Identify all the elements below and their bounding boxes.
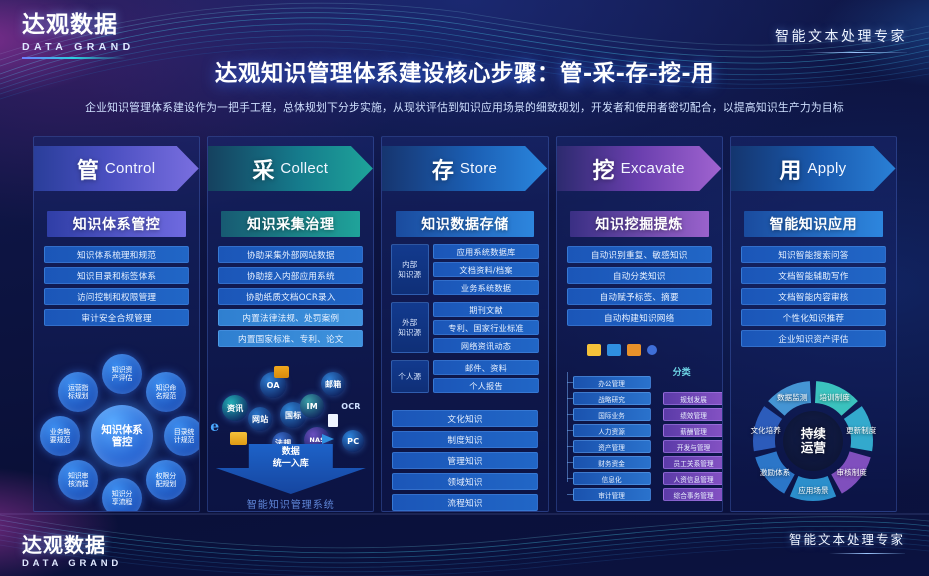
feature-item[interactable]: 内置国家标准、专利、论文 [218,330,363,347]
browser-e-icon: e [210,420,224,434]
bubble-satellite[interactable]: 运营指标规划 [58,372,98,412]
tree-connector [567,446,573,447]
footer-brand-name-en: DATA GRAND [22,559,122,569]
tree-source-icon [607,344,621,356]
footer-brand-name-cn: 达观数据 [22,535,122,555]
feature-item[interactable]: 知识智能搜索问答 [741,246,886,263]
step-header-collect[interactable]: 采Collect [208,146,373,191]
tree-source-icons [587,344,657,356]
source-node[interactable]: 资讯 [222,395,248,421]
footer-tagline-underline [829,553,905,554]
system-name-label: 智能知识管理系统 [208,496,373,511]
slide-canvas: 达观数据 DATA GRAND 智能文本处理专家 达观知识管理体系建设核心步骤：… [0,0,929,576]
section-title-store: 知识数据存储 [396,211,535,237]
source-node[interactable]: 网站 [248,407,272,431]
tree-node-secondary[interactable]: 薪酬管理 [663,424,723,437]
feature-list-store: 文化知识制度知识管理知识领域知识流程知识 [392,410,537,511]
source-item[interactable]: 个人报告 [433,378,540,393]
feature-item[interactable]: 自动识别重复、敏感知识 [567,246,712,263]
tree-connector [567,382,573,383]
figure-apply: 培训制度更新制度审核制度应用场景激励体系文化培养数据监测持续运营 [731,359,896,511]
source-node[interactable]: IM [300,394,324,418]
cycle-segment-label: 激励体系 [760,467,790,478]
source-item[interactable]: 邮件、资料 [433,360,540,375]
bubble-satellite[interactable]: 权限分配规划 [146,460,186,500]
bubble-satellite[interactable]: 业务略要规范 [40,416,80,456]
footer-logo: 达观数据 DATA GRAND [22,535,122,569]
step-char-apply: 用 [779,153,801,185]
feature-item[interactable]: 协助接入内部应用系统 [218,267,363,284]
tree-connector [567,478,573,479]
tree-node-primary[interactable]: 审计管理 [573,488,651,501]
bubble-satellite[interactable]: 知识审核流程 [58,460,98,500]
step-label-en-control: Control [105,160,155,177]
brand-name-cn: 达观数据 [22,14,135,37]
step-column-apply[interactable]: 用Apply智能知识应用知识智能搜索问答文档智能辅助写作文档智能内容审核个性化知… [730,136,897,512]
tree-connector [567,494,573,495]
tree-node-secondary[interactable]: 人资信息管理 [663,472,723,485]
bubble-cluster: 知识体系管控知识资产评估知识命名规范目录统计规范权限分配规划知识分享流程知识审核… [34,361,200,511]
tree-source-icon [627,344,641,356]
paper-plane-icon [322,434,334,444]
source-group: 个人源邮件、资料个人报告 [391,360,540,393]
feature-item[interactable]: 领域知识 [392,473,537,490]
step-header-apply[interactable]: 用Apply [730,146,895,191]
section-title-control: 知识体系管控 [47,211,186,237]
step-char-excavate: 挖 [593,153,615,185]
step-char-store: 存 [432,153,454,185]
tree-connector [567,462,573,463]
feature-item[interactable]: 知识目录和标签体系 [44,267,189,284]
tree-node-primary[interactable]: 人力资源 [573,424,651,437]
step-column-collect[interactable]: 采Collect知识采集治理协助采集外部网站数据协助接入内部应用系统协助纸质文档… [207,136,374,512]
feature-list-excavate: 自动识别重复、敏感知识自动分类知识自动赋予标签、摘要自动构建知识网络 [567,246,712,326]
data-ingest-arrow-label: 数据统一入库 [273,447,309,470]
folder-icon [230,432,247,445]
document-icon [328,414,338,427]
step-label-en-store: Store [460,160,497,177]
feature-item[interactable]: 协助采集外部网站数据 [218,246,363,263]
feature-item[interactable]: 文档智能内容审核 [741,288,886,305]
source-group: 外部知识源期刊文献专利、国家行业标准网络资讯动态 [391,302,540,353]
header-tagline: 智能文本处理专家 [775,26,907,53]
step-header-excavate[interactable]: 挖Excavate [556,146,721,191]
source-item[interactable]: 专利、国家行业标准 [433,320,540,335]
source-node[interactable]: 邮箱 [321,372,345,396]
tree-node-primary[interactable]: 战略研究 [573,392,651,405]
step-column-excavate[interactable]: 挖Excavate知识挖掘提炼自动识别重复、敏感知识自动分类知识自动赋予标签、摘… [556,136,723,512]
steps-container: 管Control知识体系管控知识体系梳理和规范知识目录和标签体系访问控制和权限管… [33,136,897,512]
tree-source-icon [587,344,601,356]
figure-collect: OA资讯网站国标法规邮箱OCRIMNASPCe数据统一入库智能知识管理系统 [208,362,373,511]
tree-node-secondary[interactable]: 规划发展 [663,392,723,405]
source-group-rows: 邮件、资料个人报告 [433,360,540,393]
source-item[interactable]: 应用系统数据库 [433,244,540,259]
tree-node-secondary[interactable]: 绩效管理 [663,408,723,421]
feature-item[interactable]: 文档智能辅助写作 [741,267,886,284]
cycle-center-label: 持续运营 [783,411,843,471]
footer-tagline-text: 智能文本处理专家 [789,529,905,548]
step-column-control[interactable]: 管Control知识体系管控知识体系梳理和规范知识目录和标签体系访问控制和权限管… [33,136,200,512]
operations-cycle: 培训制度更新制度审核制度应用场景激励体系文化培养数据监测持续运营 [733,361,893,511]
feature-list-apply: 知识智能搜索问答文档智能辅助写作文档智能内容审核个性化知识推荐企业知识资产评估 [741,246,886,347]
feature-item[interactable]: 自动分类知识 [567,267,712,284]
feature-item[interactable]: 协助纸质文档OCR录入 [218,288,363,305]
feature-item[interactable]: 自动构建知识网络 [567,309,712,326]
header-tagline-underline [805,52,907,53]
bubble-satellite[interactable]: 知识命名规范 [146,372,186,412]
cycle-segment-label: 数据监测 [777,392,807,403]
tree-connector [567,414,573,415]
source-group-rows: 期刊文献专利、国家行业标准网络资讯动态 [433,302,540,353]
page-subtitle: 企业知识管理体系建设作为一把手工程，总体规划下分步实施，从现状评估到知识应用场景… [0,99,929,115]
tree-node-secondary[interactable]: 综合事务管理 [663,488,723,501]
source-item[interactable]: 期刊文献 [433,302,540,317]
feature-item[interactable]: 文化知识 [392,410,537,427]
bubble-satellite[interactable]: 目录统计规范 [164,416,200,456]
tree-node-secondary[interactable]: 开发与管理 [663,440,723,453]
step-column-store[interactable]: 存Store知识数据存储内部知识源应用系统数据库文档资料/档案业务系统数据外部知… [381,136,548,512]
tree-connector [567,398,573,399]
feature-item[interactable]: 自动赋予标签、摘要 [567,288,712,305]
page-title: 达观知识管理体系建设核心步骤：管-采-存-挖-用 [0,56,929,88]
footer-tagline: 智能文本处理专家 [789,529,905,554]
step-header-store[interactable]: 存Store [382,146,547,191]
cycle-segment-label: 文化培养 [750,425,780,436]
step-label-en-apply: Apply [807,160,846,177]
header-logo: 达观数据 DATA GRAND [22,14,135,59]
feature-item[interactable]: 内置法律法规、处罚案例 [218,309,363,326]
feature-item[interactable]: 审计安全合规管理 [44,309,189,326]
source-item[interactable]: 业务系统数据 [433,280,540,295]
source-group-label: 个人源 [391,360,429,393]
tree-node-primary[interactable]: 国际业务 [573,408,651,421]
section-title-collect: 知识采集治理 [221,211,360,237]
cycle-segment-label: 更新制度 [846,425,876,436]
feature-item[interactable]: 管理知识 [392,452,537,469]
tree-node-primary[interactable]: 财务资金 [573,456,651,469]
feature-list-control: 知识体系梳理和规范知识目录和标签体系访问控制和权限管理审计安全合规管理 [44,246,189,326]
source-item[interactable]: 文档资料/档案 [433,262,540,277]
bubble-satellite[interactable]: 知识资产评估 [102,354,142,394]
cycle-segment-label: 应用场景 [798,485,828,496]
classify-label: 分类 [673,365,691,378]
section-title-apply: 智能知识应用 [744,211,883,237]
tree-node-primary[interactable]: 信息化 [573,472,651,485]
step-header-control[interactable]: 管Control [34,146,199,191]
cycle-segment-label: 培训制度 [819,392,849,403]
feature-item[interactable]: 企业知识资产评估 [741,330,886,347]
step-label-en-collect: Collect [280,160,328,177]
source-node[interactable]: OCR [341,402,360,411]
step-label-en-excavate: Excavate [621,160,685,177]
cycle-segment-label: 审核制度 [837,467,867,478]
header-tagline-text: 智能文本处理专家 [775,26,907,46]
tree-node-secondary[interactable]: 员工关系管理 [663,456,723,469]
feature-item[interactable]: 制度知识 [392,431,537,448]
bubble-center[interactable]: 知识体系管控 [91,405,153,467]
classification-tree: 分类办公管理战略研究国际业务人力资源资产管理财务资金信息化审计管理规划发展绩效管… [557,366,723,511]
source-group-rows: 应用系统数据库文档资料/档案业务系统数据 [433,244,540,295]
feature-item[interactable]: 个性化知识推荐 [741,309,886,326]
feature-item[interactable]: 知识体系梳理和规范 [44,246,189,263]
figure-control: 知识体系管控知识资产评估知识命名规范目录统计规范权限分配规划知识分享流程知识审核… [34,361,199,511]
bubble-satellite[interactable]: 知识分享流程 [102,478,142,512]
tree-node-primary[interactable]: 办公管理 [573,376,651,389]
source-node[interactable]: PC [342,430,364,452]
section-title-excavate: 知识挖掘提炼 [570,211,709,237]
feature-list-collect: 协助采集外部网站数据协助接入内部应用系统协助纸质文档OCR录入内置法律法规、处罚… [218,246,363,347]
step-char-control: 管 [77,153,99,185]
source-group: 内部知识源应用系统数据库文档资料/档案业务系统数据 [391,244,540,295]
tree-source-icon [647,345,657,355]
feature-item[interactable]: 访问控制和权限管理 [44,288,189,305]
figure-excavate: 分类办公管理战略研究国际业务人力资源资产管理财务资金信息化审计管理规划发展绩效管… [557,362,722,511]
feature-item[interactable]: 流程知识 [392,494,537,511]
source-group-label: 内部知识源 [391,244,429,295]
source-item[interactable]: 网络资讯动态 [433,338,540,353]
email-icon [274,366,289,378]
tree-spine [567,372,568,482]
step-char-collect: 采 [252,153,274,185]
source-group-label: 外部知识源 [391,302,429,353]
tree-node-primary[interactable]: 资产管理 [573,440,651,453]
brand-name-en: DATA GRAND [22,42,135,53]
tree-connector [567,430,573,431]
